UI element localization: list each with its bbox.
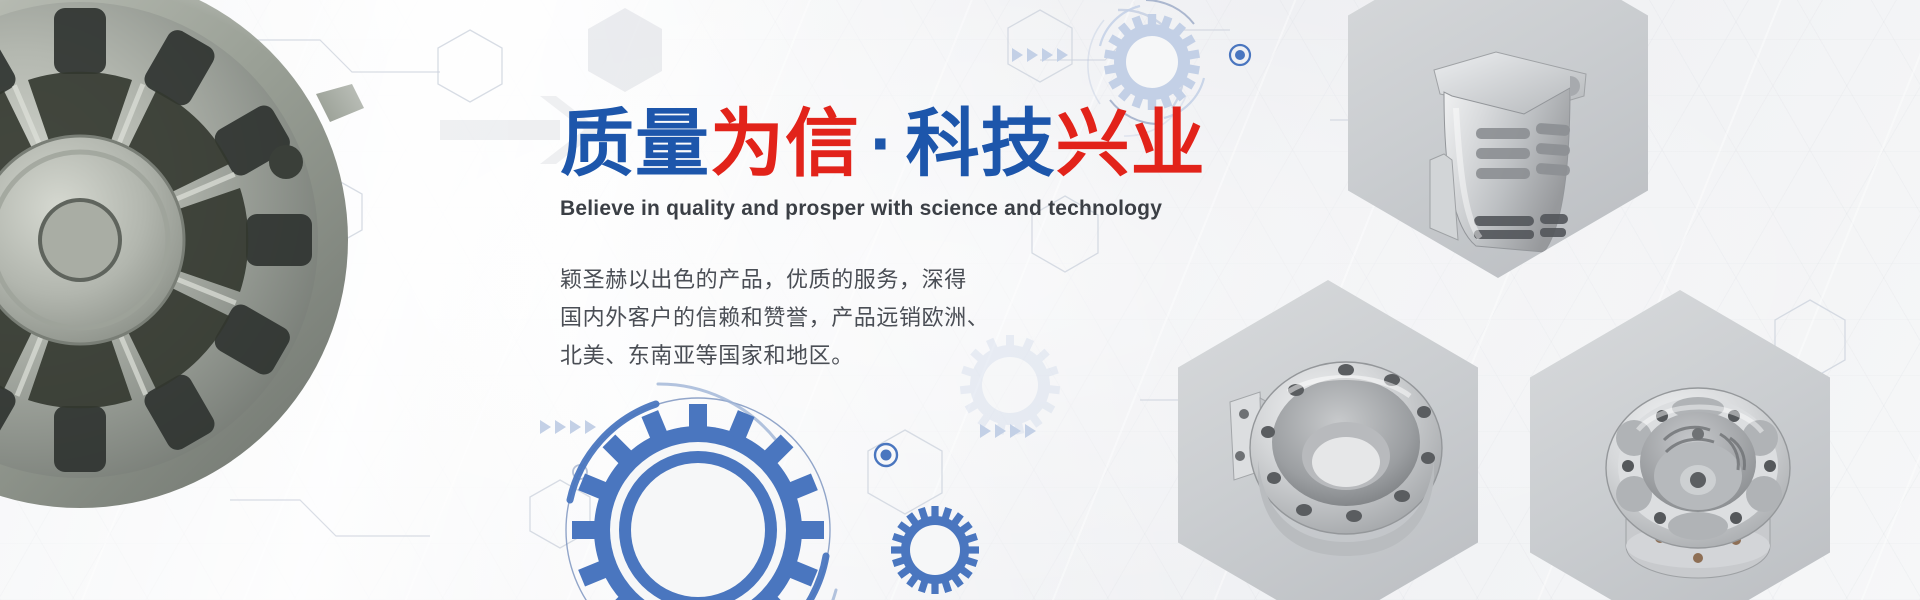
headline-part-prosper: 兴业 <box>1056 102 1206 185</box>
hero-banner: 质量为信·科技兴业 Believe in quality and prosper… <box>0 0 1920 600</box>
description-line-2: 国内外客户的信赖和赞誉，产品远销欧洲、 <box>560 299 1240 337</box>
description-line-3: 北美、东南亚等国家和地区。 <box>560 337 1240 375</box>
cast-metal-wheel-graphic <box>0 0 480 600</box>
headline-part-technology: 科技 <box>906 102 1056 185</box>
banner-text-block: 质量为信·科技兴业 Believe in quality and prosper… <box>560 105 1240 375</box>
company-description: 颖圣赫以出色的产品，优质的服务，深得 国内外客户的信赖和赞誉，产品远销欧洲、 北… <box>560 261 1240 374</box>
description-line-1: 颖圣赫以出色的产品，优质的服务，深得 <box>560 261 1240 299</box>
product-image-cast-metal-wheel <box>0 0 480 600</box>
headline-separator: · <box>860 102 906 185</box>
headline-part-quality: 质量 <box>560 102 710 185</box>
page-subtitle: Believe in quality and prosper with scie… <box>560 197 1240 221</box>
headline-part-trust: 为信 <box>710 102 860 185</box>
page-title: 质量为信·科技兴业 <box>560 105 1240 183</box>
